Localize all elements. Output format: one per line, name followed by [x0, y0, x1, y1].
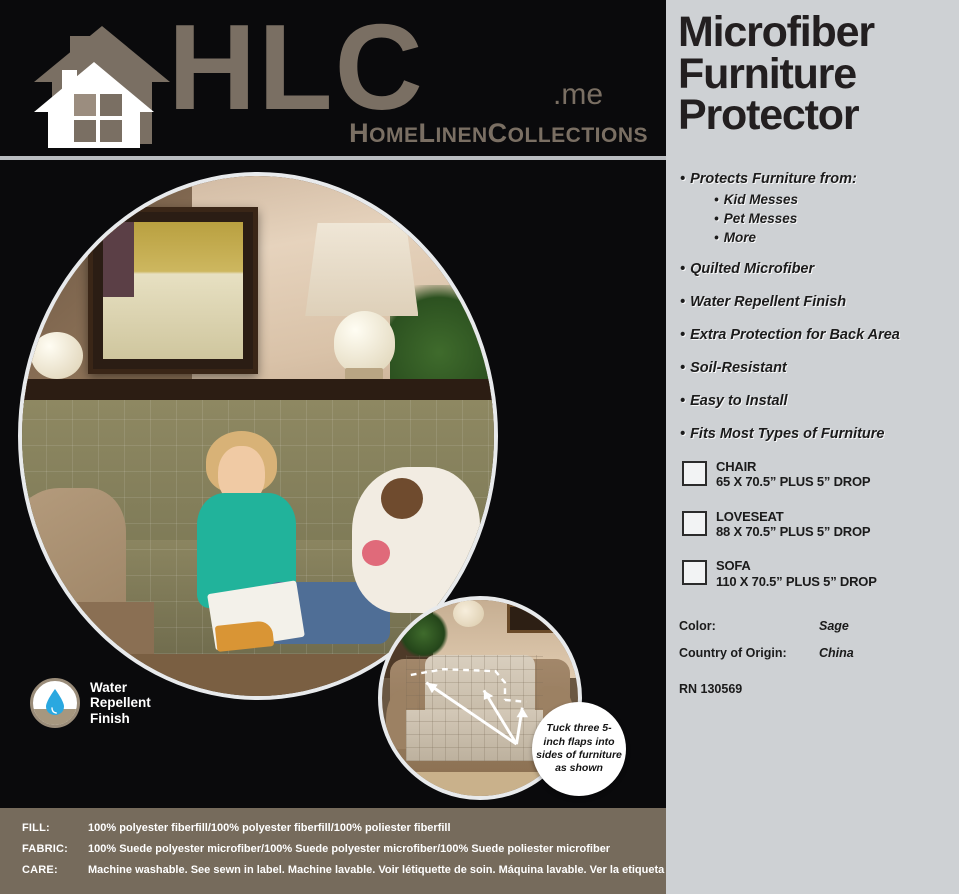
care-value-fabric: 100% Suede polyester microfiber/100% Sue…	[88, 843, 610, 855]
brand-logo-band: HLC .me HOMELINENCOLLECTIONS	[0, 0, 666, 156]
feature-label: Easy to Install	[690, 393, 788, 409]
bullet-icon: •	[680, 294, 685, 310]
brand-domain-suffix: .me	[553, 78, 603, 112]
bullet-icon: •	[680, 426, 685, 442]
photo-lamp-base	[334, 311, 395, 373]
feature-label: Quilted Microfiber	[690, 261, 814, 277]
care-row-care: CARE: Machine washable. See sewn in labe…	[22, 864, 666, 876]
care-label-fill: FILL:	[22, 822, 88, 834]
water-drop-icon	[44, 688, 66, 716]
water-repellent-badge-circle	[30, 678, 80, 728]
size-dimensions-chair: 65 X 70.5” PLUS 5” DROP	[716, 474, 870, 489]
care-label-fabric: FABRIC:	[22, 843, 88, 855]
title-line-3: Protector	[678, 95, 949, 137]
product-meta: Color: Sage Country of Origin: China	[666, 619, 959, 660]
photo-lamp-secondary	[31, 332, 83, 379]
product-title: Microfiber Furniture Protector	[666, 0, 959, 137]
badge-line-2: Repellent	[90, 695, 151, 711]
care-label-care: CARE:	[22, 864, 88, 876]
badge-line-1: Water	[90, 680, 151, 696]
feature-intro: •Protects Furniture from:	[680, 171, 959, 187]
meta-row-color: Color: Sage	[679, 619, 959, 633]
care-value-care: Machine washable. See sewn in label. Mac…	[88, 864, 728, 876]
feature-item-back-area: •Extra Protection for Back Area	[680, 327, 959, 343]
meta-row-origin: Country of Origin: China	[679, 646, 959, 660]
care-value-fill: 100% polyester fiberfill/100% polyester …	[88, 822, 451, 834]
photo-dog-eye-patch	[381, 478, 423, 520]
feature-sub-label: Pet Messes	[724, 211, 798, 226]
checkbox-loveseat[interactable]	[682, 511, 707, 536]
feature-list: •Protects Furniture from: •Kid Messes •P…	[666, 171, 959, 442]
photo-wall-art	[88, 207, 258, 373]
tuck-instruction-callout: Tuck three 5-inch flaps into sides of fu…	[532, 702, 626, 796]
brand-wordmark: HLC	[168, 6, 425, 128]
bullet-icon: •	[680, 393, 685, 409]
bullet-icon: •	[680, 171, 685, 187]
size-option-loveseat[interactable]: LOVESEAT 88 X 70.5” PLUS 5” DROP	[682, 509, 959, 540]
size-dimensions-sofa: 110 X 70.5” PLUS 5” DROP	[716, 574, 877, 589]
care-row-fill: FILL: 100% polyester fiberfill/100% poly…	[22, 822, 666, 834]
size-name-chair: CHAIR	[716, 459, 870, 474]
bullet-icon: •	[680, 327, 685, 343]
bullet-icon: •	[714, 230, 719, 245]
bullet-icon: •	[680, 360, 685, 376]
bullet-icon: •	[680, 261, 685, 277]
meta-label-origin: Country of Origin:	[679, 646, 819, 660]
water-repellent-badge: Water Repellent Finish	[30, 672, 220, 734]
feature-item-fits-most: •Fits Most Types of Furniture	[680, 426, 959, 442]
feature-intro-label: Protects Furniture from:	[690, 171, 857, 187]
meta-value-color: Sage	[819, 619, 849, 633]
house-icon	[32, 20, 172, 152]
right-panel: Microfiber Furniture Protector •Protects…	[666, 0, 959, 894]
title-line-2: Furniture	[678, 54, 949, 96]
callout-text: Tuck three 5-inch flaps into sides of fu…	[532, 722, 626, 776]
logo-divider	[0, 156, 666, 160]
photo-lamp-shade	[305, 223, 418, 317]
feature-label: Water Repellent Finish	[690, 294, 846, 310]
meta-label-color: Color:	[679, 619, 819, 633]
badge-line-3: Finish	[90, 711, 151, 727]
feature-label: Fits Most Types of Furniture	[690, 426, 884, 442]
feature-item-quilted: •Quilted Microfiber	[680, 261, 959, 277]
product-package: HLC .me HOMELINENCOLLECTIONS	[0, 0, 959, 894]
meta-value-origin: China	[819, 646, 854, 660]
feature-sub-item-pet: •Pet Messes	[714, 211, 959, 226]
care-row-fabric: FABRIC: 100% Suede polyester microfiber/…	[22, 843, 666, 855]
size-option-chair[interactable]: CHAIR 65 X 70.5” PLUS 5” DROP	[682, 459, 959, 490]
feature-sub-label: More	[724, 230, 756, 245]
size-text-chair: CHAIR 65 X 70.5” PLUS 5” DROP	[716, 459, 870, 490]
photo-wall-art-panel	[103, 222, 134, 298]
size-options: CHAIR 65 X 70.5” PLUS 5” DROP LOVESEAT 8…	[666, 459, 959, 589]
feature-item-easy-install: •Easy to Install	[680, 393, 959, 409]
rn-number: RN 130569	[666, 682, 959, 696]
checkbox-sofa[interactable]	[682, 560, 707, 585]
feature-sub-item-kid: •Kid Messes	[714, 192, 959, 207]
brand-tagline: HOMELINENCOLLECTIONS	[168, 118, 648, 149]
feature-item-water-repellent: •Water Repellent Finish	[680, 294, 959, 310]
bullet-icon: •	[714, 211, 719, 226]
left-panel: HLC .me HOMELINENCOLLECTIONS	[0, 0, 666, 894]
size-dimensions-loveseat: 88 X 70.5” PLUS 5” DROP	[716, 524, 870, 539]
care-instructions-bar: FILL: 100% polyester fiberfill/100% poly…	[0, 808, 666, 894]
feature-item-soil-resistant: •Soil-Resistant	[680, 360, 959, 376]
feature-label: Soil-Resistant	[690, 360, 787, 376]
size-option-sofa[interactable]: SOFA 110 X 70.5” PLUS 5” DROP	[682, 558, 959, 589]
photo-dog-tongue	[362, 540, 390, 566]
photo-wall-art-canvas	[103, 222, 244, 360]
checkbox-chair[interactable]	[682, 461, 707, 486]
feature-label: Extra Protection for Back Area	[690, 327, 900, 343]
water-repellent-badge-text: Water Repellent Finish	[90, 680, 151, 727]
feature-sub-label: Kid Messes	[724, 192, 798, 207]
size-text-sofa: SOFA 110 X 70.5” PLUS 5” DROP	[716, 558, 877, 589]
size-text-loveseat: LOVESEAT 88 X 70.5” PLUS 5” DROP	[716, 509, 870, 540]
title-line-1: Microfiber	[678, 12, 949, 54]
size-name-sofa: SOFA	[716, 558, 877, 573]
bullet-icon: •	[714, 192, 719, 207]
size-name-loveseat: LOVESEAT	[716, 509, 870, 524]
feature-sub-item-more: •More	[714, 230, 959, 245]
